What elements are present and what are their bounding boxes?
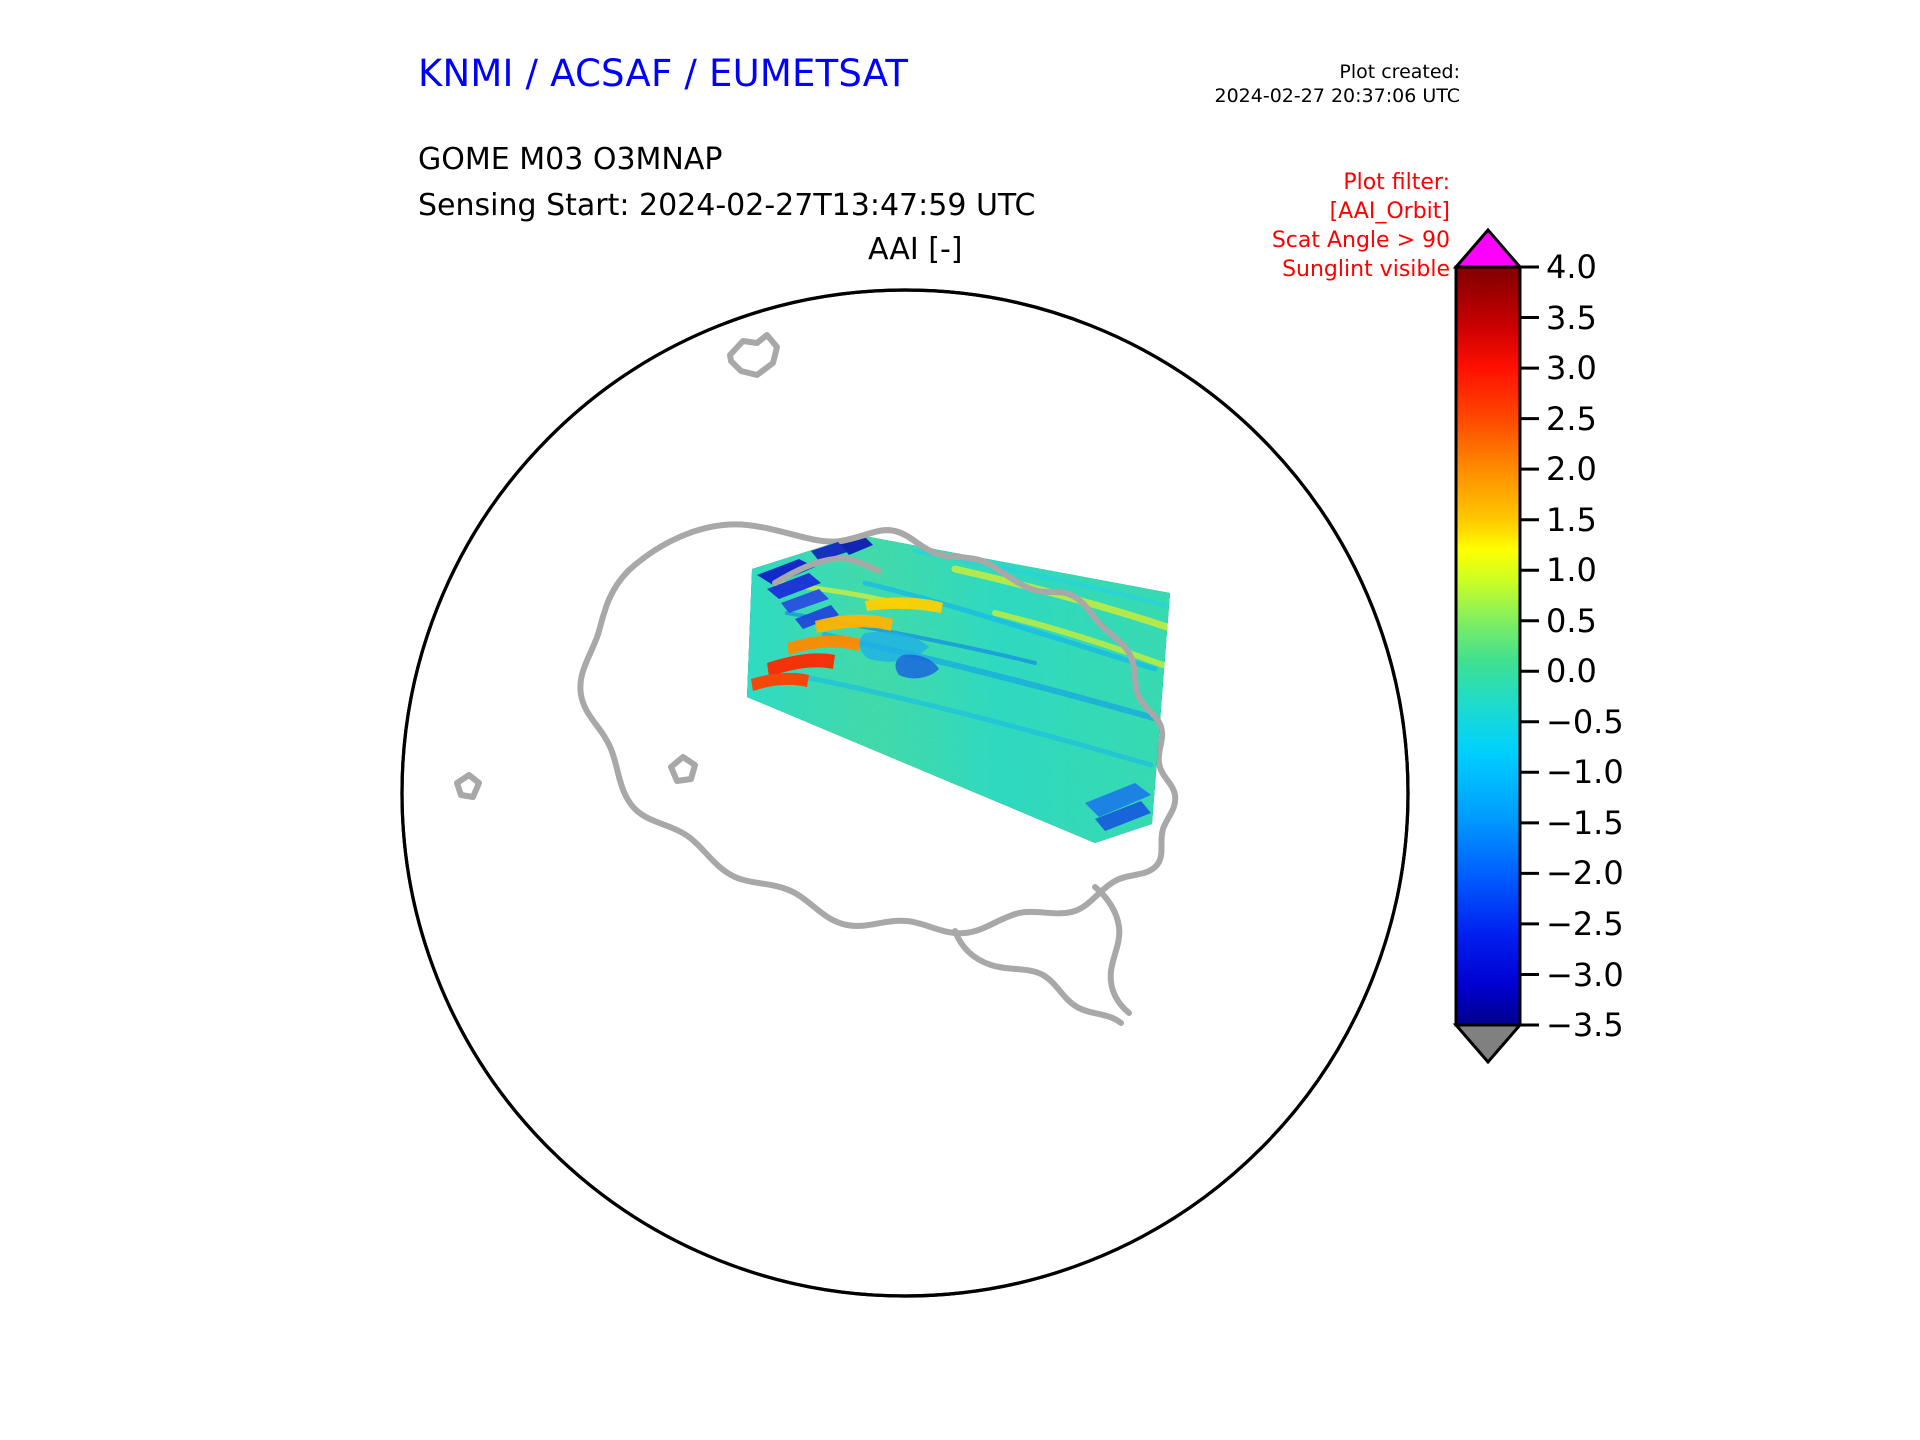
colorbar-tick-label-0: 4.0: [1546, 248, 1597, 286]
colorbar-tick-label-8: 0.0: [1546, 652, 1597, 690]
globe-disk: [402, 290, 1408, 1296]
plot-filter-line-1: Scat Angle > 90: [1130, 226, 1450, 255]
colorbar-tick-label-11: −1.5: [1546, 804, 1624, 842]
organisation-title: KNMI / ACSAF / EUMETSAT: [418, 52, 908, 95]
colorbar-tick-label-12: −2.0: [1546, 854, 1624, 892]
colorbar-tick-label-10: −1.0: [1546, 753, 1624, 791]
colorbar: 4.0 3.5 3.0 2.5 2.0 1.5 1.0 0.5 0.0 −0.5…: [1440, 228, 1860, 1078]
plot-filter-label: Plot filter:: [1130, 168, 1450, 197]
colorbar-under-arrow: [1456, 1025, 1520, 1062]
colorbar-gradient: [1456, 267, 1520, 1025]
colorbar-ticks: [1520, 267, 1539, 1025]
sensing-start-label: Sensing Start: 2024-02-27T13:47:59 UTC: [418, 188, 1035, 223]
colorbar-tick-label-14: −3.0: [1546, 956, 1624, 994]
plot-created-time: 2024-02-27 20:37:06 UTC: [1160, 84, 1460, 108]
plot-created-block: Plot created: 2024-02-27 20:37:06 UTC: [1160, 60, 1460, 109]
colorbar-tick-label-4: 2.0: [1546, 450, 1597, 488]
map-panel: [395, 283, 1415, 1303]
plot-created-label: Plot created:: [1160, 60, 1460, 84]
colorbar-tick-label-13: −2.5: [1546, 905, 1624, 943]
colorbar-tick-label-1: 3.5: [1546, 299, 1597, 337]
colorbar-tick-label-3: 2.5: [1546, 400, 1597, 438]
colorbar-tick-label-6: 1.0: [1546, 551, 1597, 589]
colorbar-tick-label-15: −3.5: [1546, 1006, 1624, 1044]
colorbar-tick-label-2: 3.0: [1546, 349, 1597, 387]
plot-filter-line-0: [AAI_Orbit]: [1130, 197, 1450, 226]
quantity-title: AAI [-]: [868, 232, 963, 267]
plot-filter-block: Plot filter: [AAI_Orbit] Scat Angle > 90…: [1130, 168, 1450, 284]
plot-canvas: KNMI / ACSAF / EUMETSAT Plot created: 20…: [0, 0, 1920, 1440]
colorbar-tick-label-7: 0.5: [1546, 602, 1597, 640]
colorbar-tick-label-5: 1.5: [1546, 501, 1597, 539]
product-title: GOME M03 O3MNAP: [418, 142, 722, 177]
colorbar-tick-label-9: −0.5: [1546, 703, 1624, 741]
plot-filter-line-2: Sunglint visible: [1130, 255, 1450, 284]
colorbar-over-arrow: [1456, 230, 1520, 267]
